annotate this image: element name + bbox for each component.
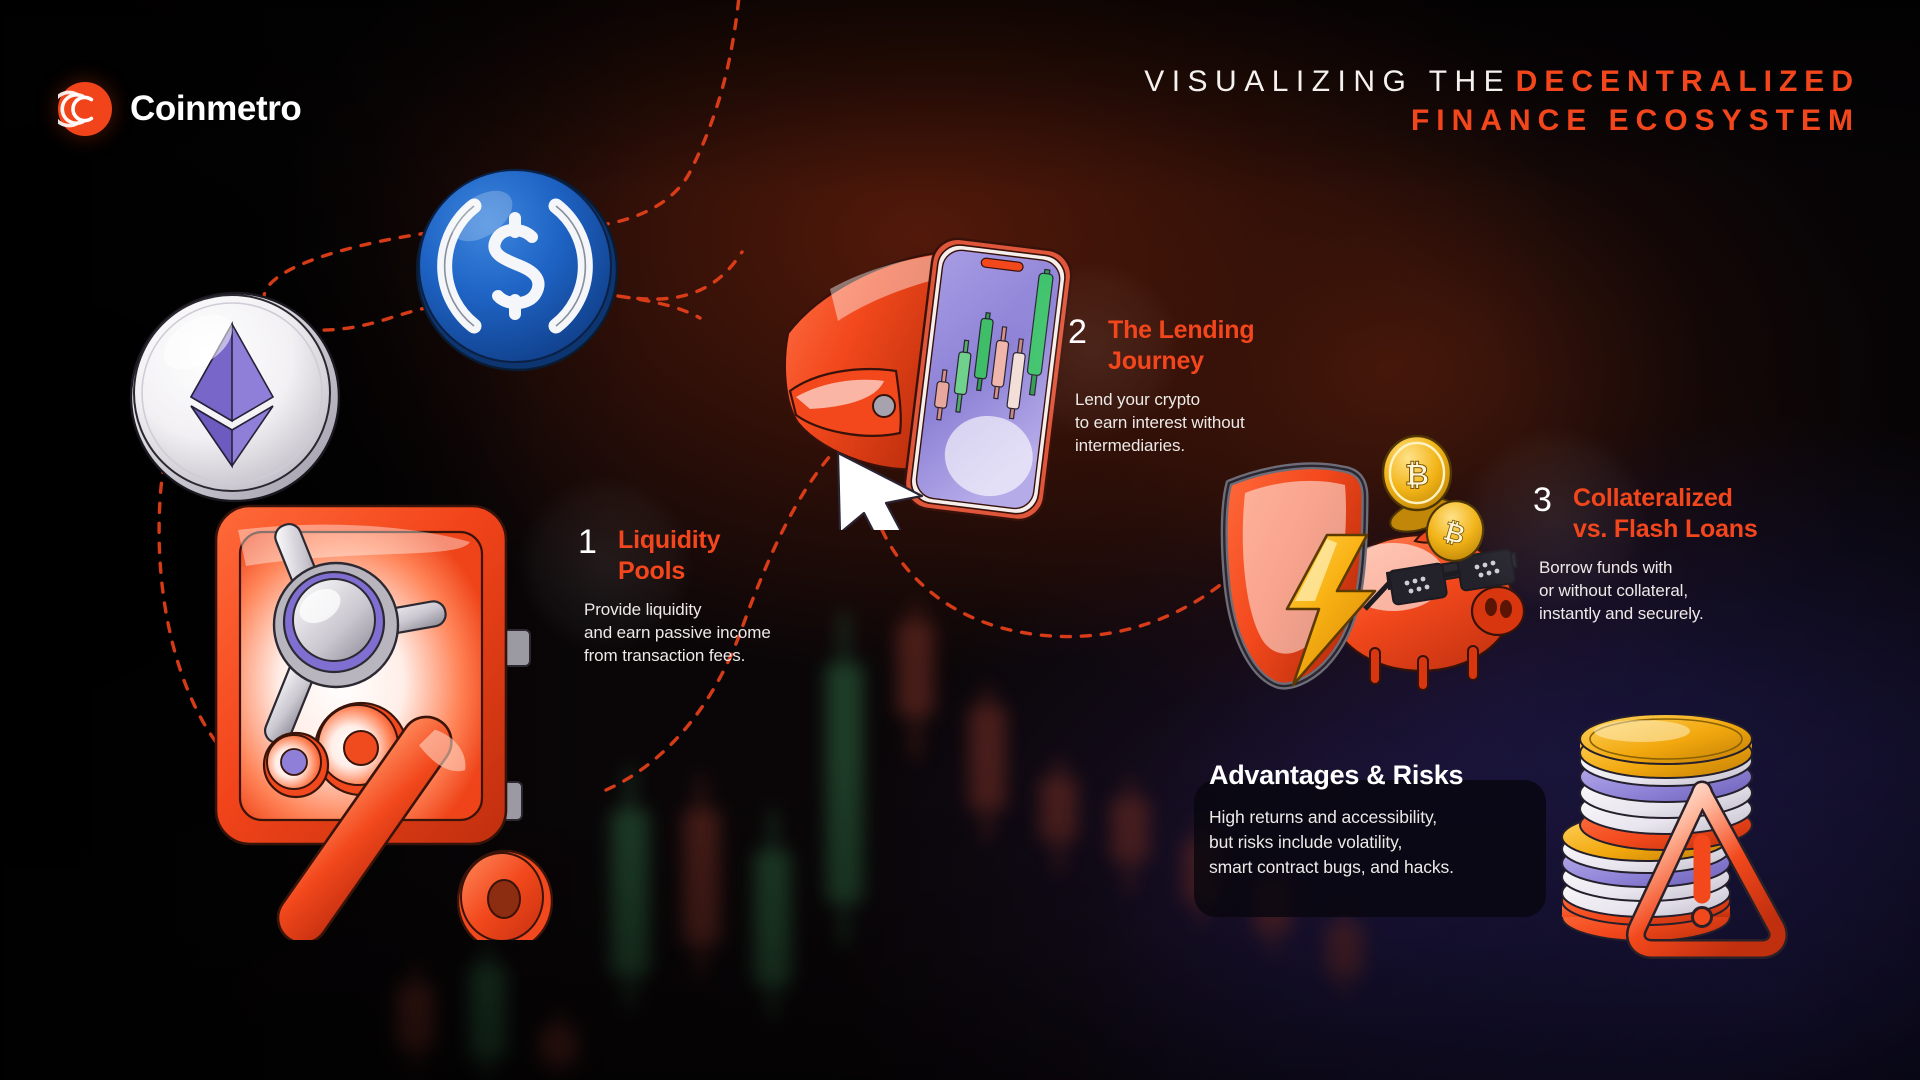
usdc-coin-icon <box>410 160 625 375</box>
brand-logo[interactable]: Coinmetro <box>58 82 301 136</box>
title-line-2: FINANCE ECOSYSTEM <box>1144 101 1860 140</box>
coinmetro-c-logo-icon <box>58 82 112 136</box>
advantages-line-2: but risks include volatility, <box>1209 830 1599 855</box>
page-title: VISUALIZING THE DECENTRALIZED FINANCE EC… <box>1144 62 1860 140</box>
step-1: 1 Liquidity Pools Provide liquidity and … <box>578 525 771 667</box>
advantages-and-risks-block: Advantages & Risks High returns and acce… <box>1209 760 1599 880</box>
title-bold-text-2: FINANCE ECOSYSTEM <box>1411 104 1860 137</box>
brand-name: Coinmetro <box>130 89 301 129</box>
step-2-desc-line-2: to earn interest without <box>1075 411 1254 434</box>
step-2-description: Lend your crypto to earn interest withou… <box>1075 388 1254 457</box>
step-1-description: Provide liquidity and earn passive incom… <box>584 598 771 667</box>
ethereum-coin-icon <box>120 280 350 510</box>
step-1-desc-line-2: and earn passive income <box>584 621 771 644</box>
step-3-title-line-2: vs. Flash Loans <box>1573 514 1758 545</box>
advantages-line-1: High returns and accessibility, <box>1209 805 1599 830</box>
step-1-heading: 1 Liquidity Pools <box>578 525 771 587</box>
advantages-description: High returns and accessibility, but risk… <box>1209 805 1599 880</box>
step-3-title-line-1: Collateralized <box>1573 483 1758 514</box>
step-1-number: 1 <box>578 525 618 560</box>
title-bold-text-1: DECENTRALIZED <box>1516 65 1860 98</box>
step-1-title-line-2: Pools <box>618 556 720 587</box>
step-2-desc-line-1: Lend your crypto <box>1075 388 1254 411</box>
step-3-heading: 3 Collateralized vs. Flash Loans <box>1533 483 1758 545</box>
step-3-desc-line-3: instantly and securely. <box>1539 602 1758 625</box>
step-3-desc-line-2: or without collateral, <box>1539 579 1758 602</box>
advantages-title: Advantages & Risks <box>1209 760 1599 791</box>
step-1-desc-line-1: Provide liquidity <box>584 598 771 621</box>
step-2-number: 2 <box>1068 315 1108 350</box>
step-2-title-line-1: The Lending <box>1108 315 1254 346</box>
wallet-phone-chart-icon <box>770 215 1090 530</box>
step-2-title-line-2: Journey <box>1108 346 1254 377</box>
step-3: 3 Collateralized vs. Flash Loans Borrow … <box>1533 483 1758 625</box>
step-3-desc-line-1: Borrow funds with <box>1539 556 1758 579</box>
title-light-text: VISUALIZING THE <box>1144 65 1511 98</box>
step-2-heading: 2 The Lending Journey <box>1068 315 1254 377</box>
svg-text:₿: ₿ <box>1405 459 1429 492</box>
shield-piggybank-bolt-icon: ₿ ₿ <box>1215 435 1535 715</box>
step-2-desc-line-3: intermediaries. <box>1075 434 1254 457</box>
title-line-1: VISUALIZING THE DECENTRALIZED <box>1144 62 1860 101</box>
safe-vault-percent-icon <box>208 490 608 940</box>
advantages-line-3: smart contract bugs, and hacks. <box>1209 855 1599 880</box>
step-1-title-line-1: Liquidity <box>618 525 720 556</box>
step-2: 2 The Lending Journey Lend your crypto t… <box>1068 315 1254 457</box>
step-3-number: 3 <box>1533 483 1573 518</box>
step-3-description: Borrow funds with or without collateral,… <box>1539 556 1758 625</box>
step-1-desc-line-3: from transaction fees. <box>584 644 771 667</box>
